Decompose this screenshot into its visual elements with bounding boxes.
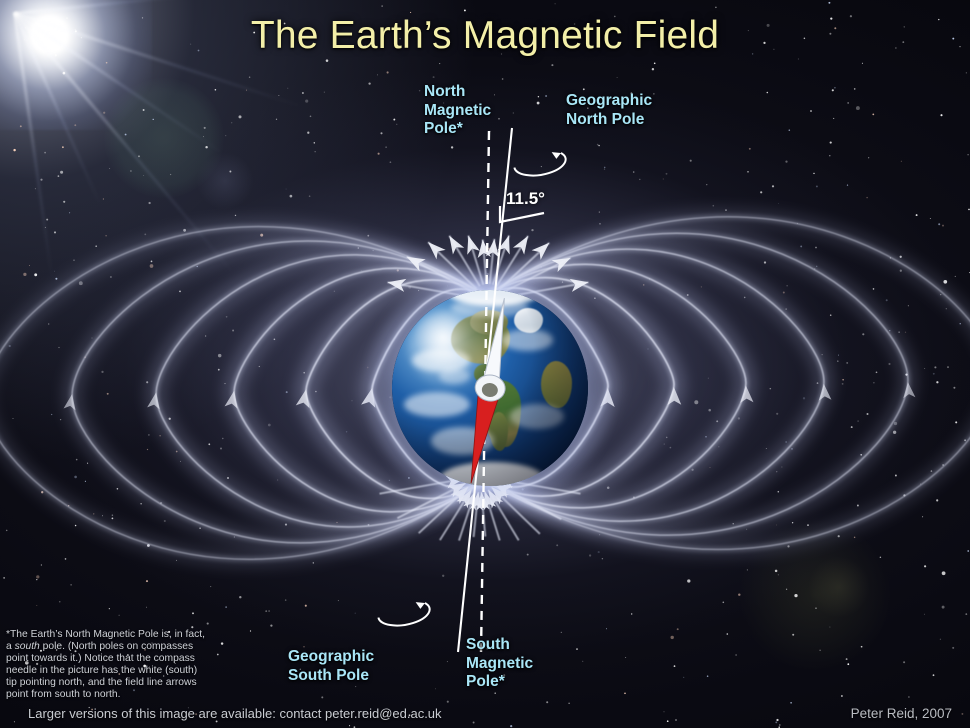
footnote-line: point from south to north. xyxy=(6,689,258,701)
footnote-line: point towards it.) Notice that the compa… xyxy=(6,653,258,665)
label-geographic-south-pole: GeographicSouth Pole xyxy=(288,648,374,685)
label-tilt-angle: 11.5° xyxy=(506,189,545,209)
footnote: *The Earth’s North Magnetic Pole is, in … xyxy=(6,629,258,700)
compass-needle xyxy=(460,296,519,486)
label-geographic-north-pole: GeographicNorth Pole xyxy=(566,92,652,129)
label-north-magnetic-pole: NorthMagneticPole* xyxy=(424,83,491,139)
label-line: GeographicNorth Pole xyxy=(566,92,652,128)
label-line: NorthMagneticPole* xyxy=(424,83,491,137)
footnote-line: tip pointing north, and the field line a… xyxy=(6,677,258,689)
rotation-arrowhead-icon xyxy=(552,151,562,160)
rotation-arrowhead-icon xyxy=(416,601,426,610)
rotation-direction-arrow-south xyxy=(377,602,431,629)
footnote-line: *The Earth’s North Magnetic Pole is, in … xyxy=(6,629,258,641)
rotation-direction-arrow-north xyxy=(513,152,567,179)
footnote-line: needle in the picture has the white (sou… xyxy=(6,665,258,677)
credit-text: Peter Reid, 2007 xyxy=(851,706,952,721)
label-line: GeographicSouth Pole xyxy=(288,648,374,684)
magnetic-field-diagram: The Earth’s Magnetic Field NorthMagnetic… xyxy=(0,0,970,728)
compass-needle-south-tip xyxy=(464,393,499,485)
compass-needle-north-tip xyxy=(483,297,512,382)
availability-text: Larger versions of this image are availa… xyxy=(28,706,442,721)
label-south-magnetic-pole: SouthMagneticPole* xyxy=(466,636,533,692)
footnote-line: a south pole. (North poles on compasses xyxy=(6,641,258,653)
label-line: SouthMagneticPole* xyxy=(466,636,533,690)
page-title: The Earth’s Magnetic Field xyxy=(0,14,970,58)
